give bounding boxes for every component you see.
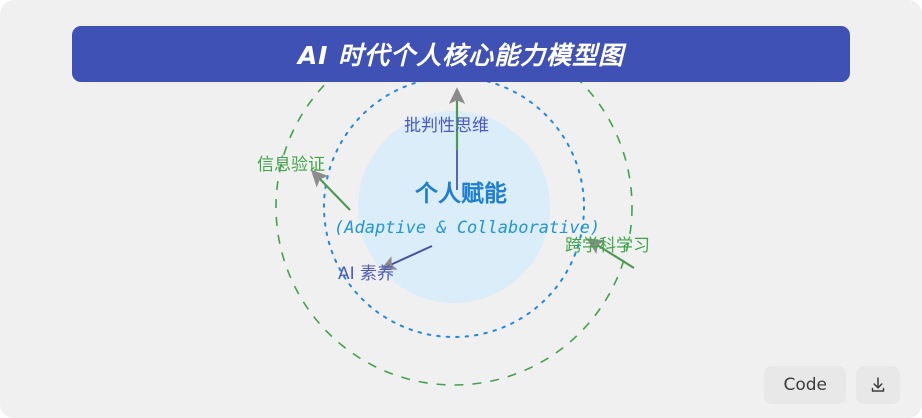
node-label-ai-literacy: AI 素养 xyxy=(338,266,394,283)
download-button[interactable] xyxy=(856,366,900,404)
screenshot-root: 有效提示工程 批判性思维 信息验证 跨学科学习 AI 素养 个人赋能 (Adap… xyxy=(0,0,922,418)
node-label-info-verification: 信息验证 xyxy=(257,157,325,174)
title-banner: AI 时代个人核心能力模型图 xyxy=(72,26,850,82)
node-label-interdisciplinary-learning: 跨学科学习 xyxy=(565,238,650,255)
figure-toolbar: Code xyxy=(764,366,900,404)
figure-card: 有效提示工程 批判性思维 信息验证 跨学科学习 AI 素养 个人赋能 (Adap… xyxy=(0,0,922,418)
arrow-info-verification xyxy=(317,176,350,210)
page-title: AI 时代个人核心能力模型图 xyxy=(298,36,624,72)
core-label: 个人赋能 xyxy=(415,183,507,206)
code-button[interactable]: Code xyxy=(764,366,846,404)
core-sublabel: (Adaptive & Collaborative) xyxy=(334,220,600,237)
node-label-critical-thinking: 批判性思维 xyxy=(404,118,489,135)
download-icon xyxy=(868,375,888,395)
